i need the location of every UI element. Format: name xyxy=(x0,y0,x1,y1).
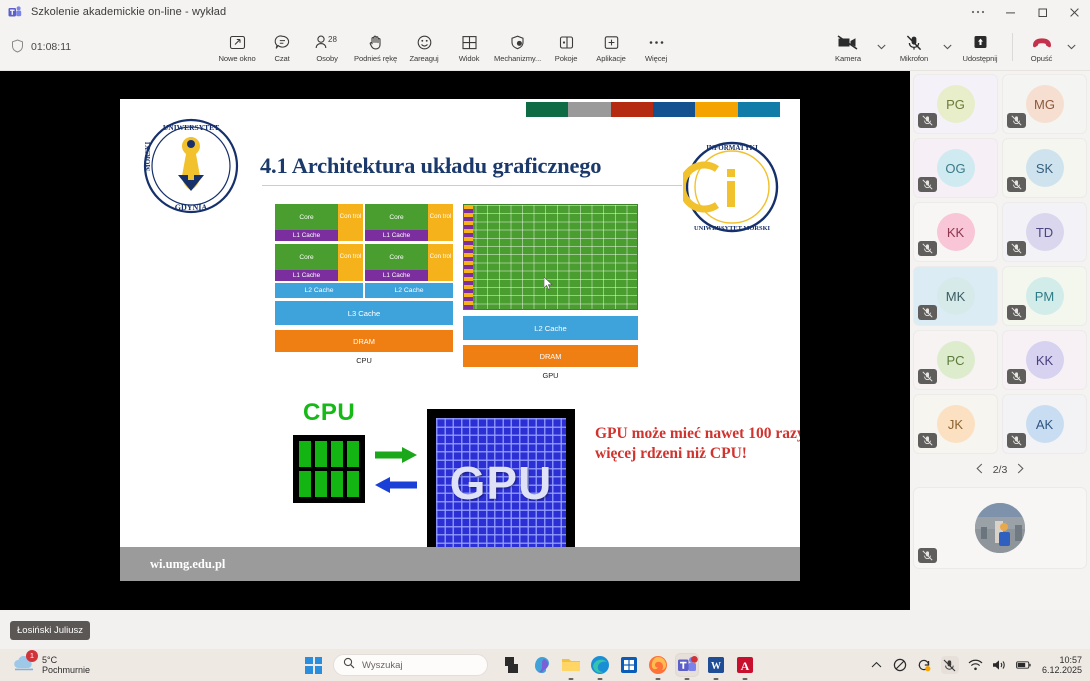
toolbar-item-camera[interactable]: Kamera xyxy=(822,32,874,63)
participant-tile[interactable]: TD xyxy=(1002,202,1087,262)
toolbar-label: Mikrofon xyxy=(900,54,928,63)
weather-widget[interactable]: 1 5°C Pochmurnie xyxy=(12,654,90,677)
gpu-control-strip xyxy=(464,205,473,309)
svg-text:28: 28 xyxy=(328,35,337,44)
avatar: KK xyxy=(937,213,975,251)
weather-temp: 5°C xyxy=(42,655,90,665)
breakout-rooms-icon xyxy=(558,34,575,52)
participant-tile[interactable]: OG xyxy=(913,138,998,198)
participant-tile[interactable]: PG xyxy=(913,74,998,134)
system-tray: 10:57 6.12.2025 xyxy=(869,655,1082,676)
chat-icon xyxy=(274,34,291,52)
hang-up-icon xyxy=(1031,34,1053,52)
toolbar-item-chat[interactable]: Czat xyxy=(260,32,305,63)
toolbar-label: Widok xyxy=(459,54,480,63)
toolbar-label: Aplikacje xyxy=(596,54,626,63)
participant-video-tile[interactable] xyxy=(913,487,1087,569)
avatar: SK xyxy=(1026,149,1064,187)
reactions-icon xyxy=(416,34,433,52)
microphone-muted-icon xyxy=(906,34,922,52)
presenter-name-label: Łosiński Juliusz xyxy=(10,621,90,640)
title-underline xyxy=(262,185,682,186)
participant-tiles: PG MG OG SK KK TD xyxy=(913,74,1087,454)
clock-date: 6.12.2025 xyxy=(1042,665,1082,675)
green-arrow-right-icon xyxy=(375,447,417,463)
toolbar-item-more[interactable]: Więcej xyxy=(634,32,679,63)
cpu-core-unit: Core Con trol L1 Cache xyxy=(275,204,363,241)
mouse-pointer xyxy=(544,277,553,290)
meeting-timer: 01:08:11 xyxy=(11,39,71,56)
core-label: Core xyxy=(365,204,428,230)
cpu-chip-graphic xyxy=(293,435,365,503)
taskbar-apps: W A xyxy=(502,654,756,676)
file-explorer-icon[interactable] xyxy=(560,654,582,676)
apps-plus-icon xyxy=(603,34,620,52)
teams-icon[interactable] xyxy=(676,654,698,676)
avatar: AK xyxy=(1026,405,1064,443)
avatar: KK xyxy=(1026,341,1064,379)
toolbar-label: Nowe okno xyxy=(219,54,256,63)
shared-content-stage[interactable]: UNIWERSYTET GDYNIA MORSKI INFORMATYKI UN… xyxy=(0,71,910,610)
view-grid-icon xyxy=(461,34,478,52)
show-hidden-icons-chevron-icon[interactable] xyxy=(869,658,884,673)
muted-mic-badge xyxy=(1007,241,1026,256)
muted-mic-badge xyxy=(1007,369,1026,384)
svg-text:INFORMATYKI: INFORMATYKI xyxy=(706,144,758,152)
participant-tile[interactable]: SK xyxy=(1002,138,1087,198)
weather-badge: 1 xyxy=(26,650,38,662)
toolbar-item-controls[interactable]: Mechanizmy... xyxy=(492,32,544,63)
gpu-dram-label: DRAM xyxy=(463,345,638,367)
battery-icon[interactable] xyxy=(1016,658,1031,673)
participant-tile[interactable]: MG xyxy=(1002,74,1087,134)
page-indicator: 2/3 xyxy=(993,464,1008,476)
gpu-l2-cache-label: L2 Cache xyxy=(463,316,638,340)
gpu-heading: GPU xyxy=(450,456,553,510)
muted-mic-badge xyxy=(1007,113,1026,128)
muted-mic-badge xyxy=(918,177,937,192)
microsoft-store-icon[interactable] xyxy=(618,654,640,676)
slide-footer: wi.umg.edu.pl xyxy=(120,547,800,581)
muted-mic-badge xyxy=(918,369,937,384)
weather-condition: Pochmurnie xyxy=(42,665,90,675)
acrobat-reader-icon[interactable]: A xyxy=(734,654,756,676)
windows-start-icon[interactable] xyxy=(305,657,322,674)
l1-cache-label: L1 Cache xyxy=(365,230,428,241)
toolbar-call-controls: Kamera Mikrofon Udostępnij xyxy=(822,31,1078,63)
control-label: Con trol xyxy=(338,244,363,270)
gpu-core-note: GPU może mieć nawet 100 razy więcej rdze… xyxy=(595,424,800,465)
toolbar-item-leave[interactable]: Opuść xyxy=(1019,32,1064,63)
toolbar-item-raise-hand[interactable]: Podnieś rękę xyxy=(350,32,402,63)
toolbar-item-share[interactable]: Udostępnij xyxy=(954,32,1006,63)
camera-off-icon xyxy=(837,34,859,52)
core-label: Core xyxy=(365,244,428,270)
slide-title: 4.1 Architektura układu graficznego xyxy=(260,153,601,179)
minimize-icon[interactable] xyxy=(994,0,1026,24)
avatar: MG xyxy=(1026,85,1064,123)
toolbar-label: Zareaguj xyxy=(409,54,438,63)
windows-update-icon[interactable] xyxy=(917,658,932,673)
svg-text:A: A xyxy=(741,659,750,673)
toolbar-label: Czat xyxy=(274,54,289,63)
firefox-icon[interactable] xyxy=(647,654,669,676)
participant-tile[interactable]: KK xyxy=(1002,330,1087,390)
l2-cache-label: L2 Cache xyxy=(365,283,453,298)
window-title: Szkolenie akademickie on-line - wykład xyxy=(31,6,226,18)
toolbar-label: Udostępnij xyxy=(963,54,998,63)
maximize-icon[interactable] xyxy=(1026,0,1058,24)
muted-mic-badge xyxy=(1007,305,1026,320)
svg-text:GDYNIA: GDYNIA xyxy=(175,203,208,212)
slide-footer-url: wi.umg.edu.pl xyxy=(150,557,225,572)
participant-tile[interactable]: PM xyxy=(1002,266,1087,326)
participants-roster: PG MG OG SK KK TD xyxy=(910,71,1090,610)
toolbar-item-view[interactable]: Widok xyxy=(447,32,492,63)
l2-cache-label: L2 Cache xyxy=(275,283,363,298)
cpu-heading: CPU xyxy=(303,399,355,427)
people-icon: 28 xyxy=(314,34,340,52)
participant-tile[interactable]: MK xyxy=(913,266,998,326)
search-input[interactable]: Wyszukaj xyxy=(333,654,488,676)
shield-icon xyxy=(11,39,24,56)
avatar: JK xyxy=(937,405,975,443)
muted-mic-badge xyxy=(918,241,937,256)
slide-color-bar xyxy=(526,102,780,117)
toolbar-label: Kamera xyxy=(835,54,861,63)
gpu-chip-graphic: GPU xyxy=(427,409,575,557)
rooms-shield-icon xyxy=(509,34,526,52)
gpu-core-grid xyxy=(463,204,638,310)
edge-icon[interactable] xyxy=(589,654,611,676)
control-label: Con trol xyxy=(338,204,363,230)
svg-text:UNIWERSYTET: UNIWERSYTET xyxy=(163,123,219,132)
clock-time: 10:57 xyxy=(1042,655,1082,665)
toolbar-item-breakout-rooms[interactable]: Pokoje xyxy=(544,32,589,63)
microphone-muted-tray-icon[interactable] xyxy=(941,656,959,674)
cpu-core-unit: Core Con trol L1 Cache xyxy=(365,204,453,241)
participant-tile[interactable]: KK xyxy=(913,202,998,262)
toolbar-item-apps[interactable]: Aplikacje xyxy=(589,32,634,63)
title-bar: Szkolenie akademickie on-line - wykład xyxy=(0,0,1090,24)
cpu-dram-label: DRAM xyxy=(275,330,453,352)
toolbar-divider xyxy=(1012,33,1013,61)
muted-mic-badge xyxy=(918,433,937,448)
gpu-chip-caption: GPU xyxy=(463,371,638,380)
timer-value: 01:08:11 xyxy=(31,41,71,53)
toolbar-label: Pokoje xyxy=(555,54,578,63)
teams-app-icon xyxy=(8,5,22,19)
muted-mic-badge xyxy=(918,113,937,128)
share-screen-icon xyxy=(972,34,989,52)
ellipsis-icon xyxy=(648,34,665,52)
windows-taskbar: 1 5°C Pochmurnie Wyszukaj xyxy=(0,649,1090,681)
gpu-block-diagram: L2 Cache DRAM GPU xyxy=(463,204,638,380)
participant-tile[interactable]: AK xyxy=(1002,394,1087,454)
svg-text:UNIWERSYTET MORSKI: UNIWERSYTET MORSKI xyxy=(694,225,771,232)
cpu-chip-caption: CPU xyxy=(275,356,453,365)
copilot-icon[interactable] xyxy=(531,654,553,676)
chevron-right-icon[interactable] xyxy=(1017,463,1024,477)
control-label: Con trol xyxy=(428,244,453,270)
toolbar-label: Podnieś rękę xyxy=(354,54,397,63)
task-view-icon[interactable] xyxy=(502,654,524,676)
window-controls xyxy=(962,0,1090,24)
wifi-icon[interactable] xyxy=(968,658,983,673)
word-icon[interactable]: W xyxy=(705,654,727,676)
new-window-icon xyxy=(229,34,246,52)
svg-text:MORSKI: MORSKI xyxy=(144,142,152,171)
cpu-core-unit: Core Con trol L1 Cache xyxy=(365,244,453,281)
muted-mic-badge xyxy=(918,548,937,563)
raise-hand-icon xyxy=(367,34,384,52)
avatar: TD xyxy=(1026,213,1064,251)
control-label: Con trol xyxy=(428,204,453,230)
core-label: Core xyxy=(275,204,338,230)
search-placeholder: Wyszukaj xyxy=(362,660,403,671)
toolbar-label: Więcej xyxy=(645,54,667,63)
more-options-icon[interactable] xyxy=(962,0,994,24)
taskbar-center: Wyszukaj xyxy=(305,654,756,676)
blue-arrow-left-icon xyxy=(375,477,417,493)
participant-tile[interactable]: PC xyxy=(913,330,998,390)
toolbar-label: Opuść xyxy=(1031,54,1052,63)
l1-cache-label: L1 Cache xyxy=(365,270,428,281)
camera-chevron-down-icon[interactable] xyxy=(874,31,888,63)
avatar: MK xyxy=(937,277,975,315)
meeting-toolbar: 01:08:11 Nowe okno Czat xyxy=(0,24,1090,71)
toolbar-item-new-window[interactable]: Nowe okno xyxy=(215,32,260,63)
cpu-block-diagram: Core Con trol L1 Cache Core Con trol L xyxy=(275,204,453,365)
l1-cache-label: L1 Cache xyxy=(275,270,338,281)
toolbar-item-people[interactable]: 28 Osoby xyxy=(305,32,350,63)
avatar: OG xyxy=(937,149,975,187)
toolbar-label: Mechanizmy... xyxy=(494,54,541,63)
avatar: PG xyxy=(937,85,975,123)
toolbar-label: Osoby xyxy=(316,54,337,63)
core-label: Core xyxy=(275,244,338,270)
wydzial-informatyki-logo: INFORMATYKI UNIWERSYTET MORSKI xyxy=(683,139,781,235)
presentation-slide: UNIWERSYTET GDYNIA MORSKI INFORMATYKI UN… xyxy=(120,99,800,581)
search-icon xyxy=(343,656,355,674)
roster-pagination: 2/3 xyxy=(913,463,1087,477)
muted-mic-badge xyxy=(1007,433,1026,448)
svg-text:W: W xyxy=(711,661,721,672)
chevron-left-icon[interactable] xyxy=(976,463,983,477)
muted-mic-badge xyxy=(1007,177,1026,192)
l3-cache-label: L3 Cache xyxy=(275,301,453,325)
close-icon[interactable] xyxy=(1058,0,1090,24)
toolbar-item-microphone[interactable]: Mikrofon xyxy=(888,32,940,63)
toolbar-actions: Nowe okno Czat 28 Osoby xyxy=(215,32,679,63)
umg-gdynia-logo: UNIWERSYTET GDYNIA MORSKI xyxy=(142,117,240,215)
teams-meeting-window: Szkolenie akademickie on-line - wykład 0… xyxy=(0,0,1090,681)
do-not-disturb-icon[interactable] xyxy=(893,658,908,673)
avatar: PC xyxy=(937,341,975,379)
muted-mic-badge xyxy=(918,305,937,320)
taskbar-clock[interactable]: 10:57 6.12.2025 xyxy=(1042,655,1082,676)
volume-icon[interactable] xyxy=(992,658,1007,673)
l1-cache-label: L1 Cache xyxy=(275,230,338,241)
participant-tile[interactable]: JK xyxy=(913,394,998,454)
user-photo-avatar xyxy=(975,503,1025,553)
cpu-core-unit: Core Con trol L1 Cache xyxy=(275,244,363,281)
leave-chevron-down-icon[interactable] xyxy=(1064,31,1078,63)
microphone-chevron-down-icon[interactable] xyxy=(940,31,954,63)
avatar: PM xyxy=(1026,277,1064,315)
toolbar-item-react[interactable]: Zareaguj xyxy=(402,32,447,63)
